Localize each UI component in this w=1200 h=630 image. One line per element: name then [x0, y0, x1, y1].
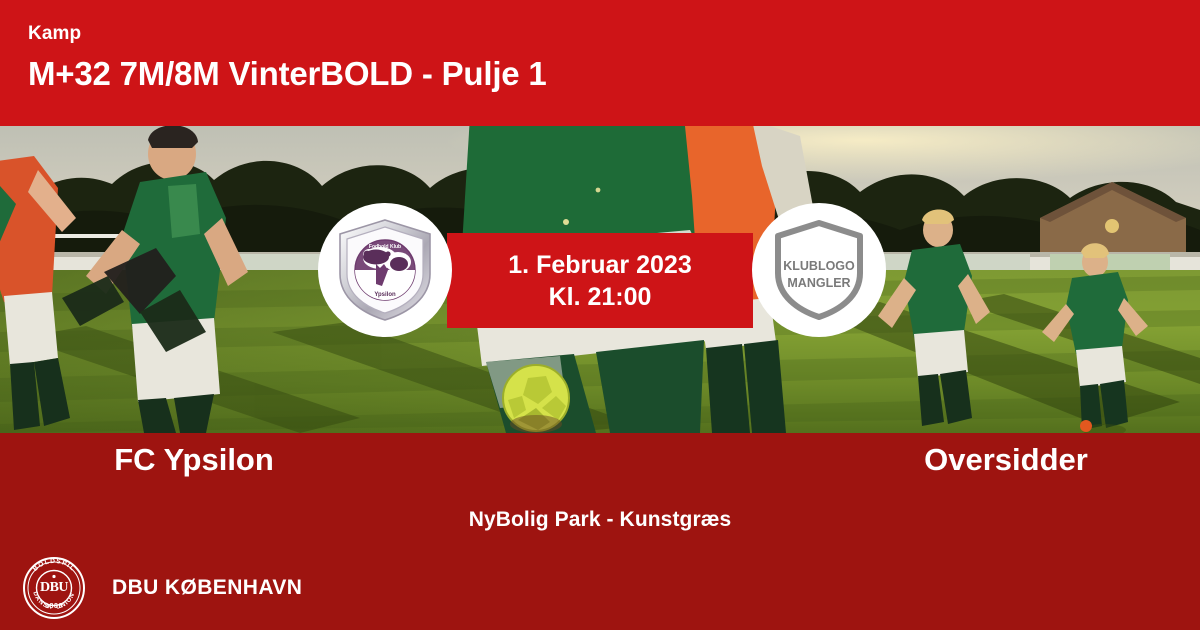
home-team-crest[interactable]: Ypsilon Fodbold Klub: [318, 203, 452, 337]
dbu-logo-icon: BOLDSPIL DANSK UNION DBU 1889: [22, 556, 86, 620]
match-datetime-banner: 1. Februar 2023 Kl. 21:00: [447, 233, 753, 328]
match-card: Kamp M+32 7M/8M VinterBOLD - Pulje 1: [0, 0, 1200, 630]
page-title: M+32 7M/8M VinterBOLD - Pulje 1: [28, 56, 1200, 92]
footer-org-name: DBU KØBENHAVN: [112, 576, 302, 600]
kamp-label: Kamp: [28, 24, 1200, 43]
svg-text:Fodbold Klub: Fodbold Klub: [369, 244, 401, 250]
footer: BOLDSPIL DANSK UNION DBU 1889 DBU KØBENH…: [0, 546, 1200, 630]
team-names-row: FC Ypsilon Oversidder: [0, 443, 1200, 477]
match-date: 1. Februar 2023: [508, 249, 691, 281]
svg-text:DBU: DBU: [40, 580, 68, 595]
match-time: Kl. 21:00: [549, 281, 652, 313]
venue-label: NyBolig Park - Kunstgræs: [0, 508, 1200, 532]
home-team-name: FC Ypsilon: [0, 443, 600, 477]
header-banner: Kamp M+32 7M/8M VinterBOLD - Pulje 1: [0, 0, 1200, 126]
away-team-name: Oversidder: [600, 443, 1200, 477]
away-crest-line1: KLUBLOGO: [783, 259, 855, 273]
svg-text:Ypsilon: Ypsilon: [374, 292, 396, 298]
away-team-crest-placeholder[interactable]: KLUBLOGO MANGLER: [752, 203, 886, 337]
away-crest-line2: MANGLER: [787, 276, 850, 290]
svg-text:1889: 1889: [45, 603, 63, 610]
